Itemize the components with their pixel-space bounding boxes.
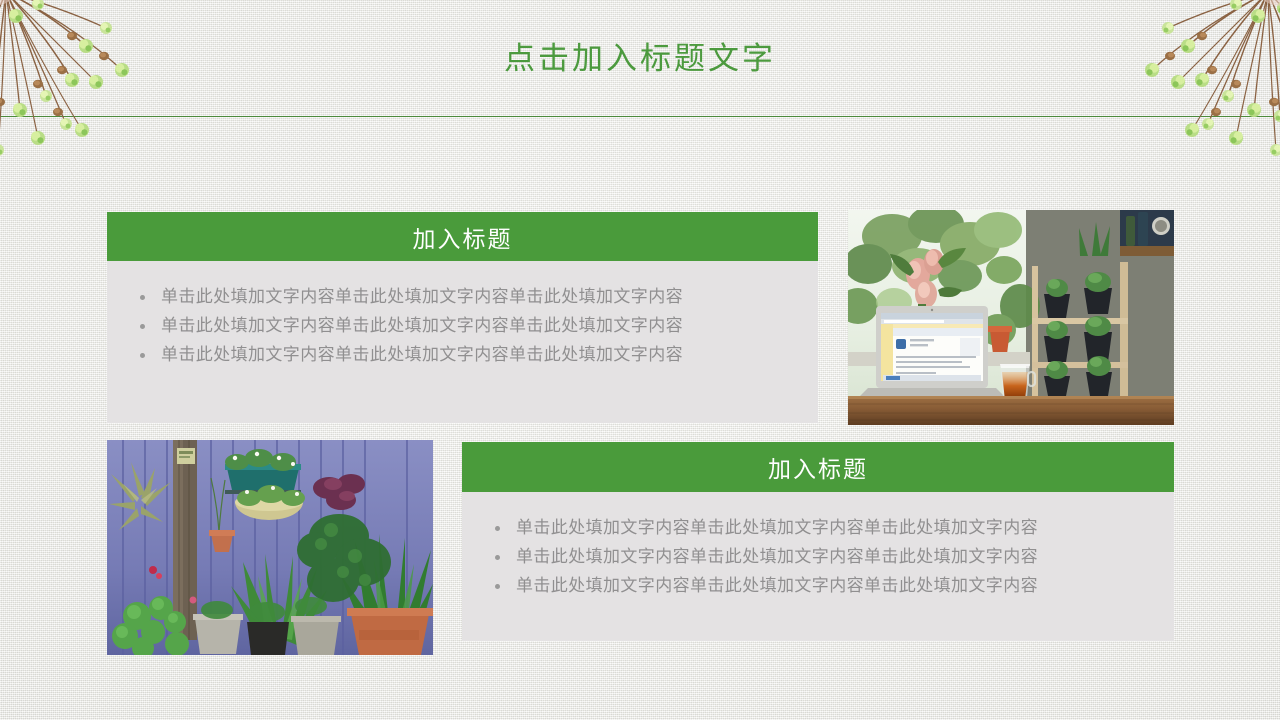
laptop-desk-plants-photo: [848, 210, 1174, 425]
list-item: 单击此处填加文字内容单击此处填加文字内容单击此处填加文字内容: [131, 312, 804, 341]
list-item: 单击此处填加文字内容单击此处填加文字内容单击此处填加文字内容: [486, 514, 1160, 543]
panel-top-heading: 加入标题: [107, 212, 818, 261]
page-title: 点击加入标题文字: [504, 42, 776, 76]
panel-bottom-body: 单击此处填加文字内容单击此处填加文字内容单击此处填加文字内容 单击此处填加文字内…: [462, 492, 1174, 601]
garden-wall-plants-photo: [107, 440, 433, 655]
panel-bottom-heading: 加入标题: [462, 442, 1174, 492]
content-panel-bottom: 加入标题 单击此处填加文字内容单击此处填加文字内容单击此处填加文字内容 单击此处…: [462, 442, 1174, 641]
list-item: 单击此处填加文字内容单击此处填加文字内容单击此处填加文字内容: [486, 543, 1160, 572]
slide-title-area: 点击加入标题文字: [0, 0, 1280, 118]
content-panel-top: 加入标题 单击此处填加文字内容单击此处填加文字内容单击此处填加文字内容 单击此处…: [107, 212, 818, 423]
slide-canvas: 点击加入标题文字: [0, 0, 1280, 720]
list-item: 单击此处填加文字内容单击此处填加文字内容单击此处填加文字内容: [486, 572, 1160, 601]
panel-top-body: 单击此处填加文字内容单击此处填加文字内容单击此处填加文字内容 单击此处填加文字内…: [107, 261, 818, 370]
list-item: 单击此处填加文字内容单击此处填加文字内容单击此处填加文字内容: [131, 341, 804, 370]
title-divider: [0, 116, 1280, 117]
panel-bottom-bullet-list: 单击此处填加文字内容单击此处填加文字内容单击此处填加文字内容 单击此处填加文字内…: [486, 514, 1160, 601]
panel-top-bullet-list: 单击此处填加文字内容单击此处填加文字内容单击此处填加文字内容 单击此处填加文字内…: [131, 283, 804, 370]
list-item: 单击此处填加文字内容单击此处填加文字内容单击此处填加文字内容: [131, 283, 804, 312]
